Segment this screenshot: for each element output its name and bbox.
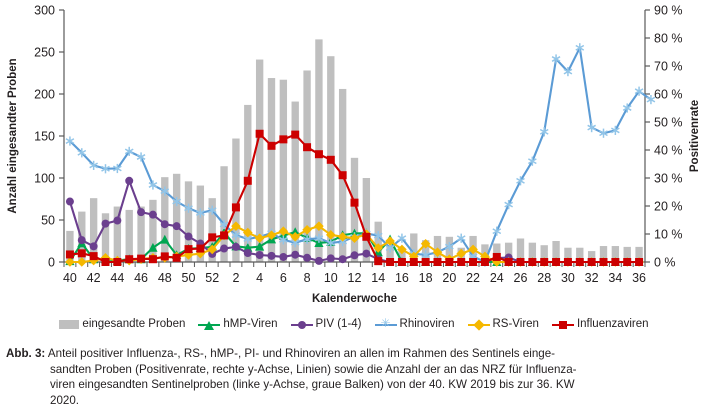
legend-item-rs-viren[interactable]: RS-Viren [468,318,539,330]
marker-square [374,257,382,265]
legend-item-influenzaviren[interactable]: Influenzaviren [552,318,649,330]
marker-square [457,258,465,266]
legend-marker-diamond-icon [468,319,490,330]
x-axis-tick-label: 12 [348,271,362,285]
marker-circle [327,254,335,262]
x-axis-tick-label: 40 [63,271,77,285]
marker-circle [185,233,193,241]
marker-square [398,258,406,266]
marker-square [208,233,216,241]
marker-square [576,258,584,266]
x-axis-tick-label: 18 [419,271,433,285]
figure-caption: Abb. 3: Anteil positiver Influenza-, RS-… [6,346,700,408]
y-axis-right-tick-label: 40 % [654,144,683,158]
marker-square [173,254,181,262]
legend-marker-star-icon: ✳ [375,319,397,330]
chart-legend: eingesandte ProbenhMP-VirenPIV (1-4)✳Rhi… [0,318,708,330]
bar-eingesandte-proben [363,178,370,262]
marker-square [220,231,228,239]
marker-square [339,171,347,179]
legend-swatch-bar-icon [59,320,79,329]
marker-square [422,258,430,266]
marker-circle [161,220,169,228]
series-line [70,48,651,262]
legend-symbol-star: ✳ [380,319,392,330]
marker-square [635,258,643,266]
y-axis-right-tick-label: 70 % [654,60,683,74]
x-axis-tick-label: 46 [134,271,148,285]
legend-label: hMP-Viren [223,318,277,330]
bar-eingesandte-proben [149,200,156,262]
y-axis-left-tick-label: 100 [34,172,55,186]
x-axis-tick-label: 32 [585,271,599,285]
marker-square [493,253,501,261]
x-axis-tick-label: 30 [561,271,575,285]
marker-square [362,233,370,241]
marker-circle [137,208,145,216]
x-axis-tick-label: 26 [514,271,528,285]
marker-square [517,258,525,266]
y-axis-right-tick-label: 60 % [654,88,683,102]
x-axis-tick-label: 24 [490,271,504,285]
marker-square [481,258,489,266]
legend-marker-circle-icon [291,319,313,330]
legend-marker-square-icon [552,319,574,330]
marker-circle [244,249,252,257]
y-axis-right-title: Positivenrate [689,100,701,172]
bar-eingesandte-proben [173,174,180,262]
marker-square [279,135,287,143]
caption-line-4: 2020. [6,393,700,409]
marker-square [410,258,418,266]
marker-circle [173,222,181,230]
marker-circle [220,245,228,253]
x-axis-tick-label: 42 [87,271,101,285]
marker-circle [303,254,311,262]
legend-label: PIV (1-4) [316,318,362,330]
x-axis-tick-label: 16 [395,271,409,285]
legend-symbol-triangle [204,321,214,330]
marker-square [196,245,204,253]
marker-square [125,255,133,263]
marker-circle [125,177,133,185]
bar-eingesandte-proben [256,60,263,262]
marker-circle [113,217,121,225]
marker-circle [66,198,74,206]
bars-group [66,39,643,262]
marker-square [327,156,335,164]
x-axis-tick-label: 52 [205,271,219,285]
marker-square [291,131,299,139]
y-axis-right-tick-label: 50 % [654,116,683,130]
caption-line-2: sandten Proben (Positivenrate, rechte y-… [6,362,700,378]
legend-symbol-diamond [473,319,484,330]
marker-circle [232,243,240,251]
marker-circle [149,211,157,219]
legend-label: Rhinoviren [400,318,455,330]
x-axis-title: Kalenderwoche [312,293,397,305]
x-axis-tick-label: 36 [632,271,646,285]
y-axis-left-tick-label: 50 [41,214,55,228]
marker-square [90,252,98,260]
marker-square [611,258,619,266]
x-axis-tick-label: 22 [466,271,480,285]
marker-square [303,143,311,151]
caption-line-1: Anteil positiver Influenza-, RS-, hMP-, … [48,347,555,360]
y-axis-right-tick-label: 0 % [654,256,676,270]
figure-container: 0501001502002503000 %10 %20 %30 %40 %50 … [0,0,708,418]
marker-square [268,142,276,150]
legend-item-eingesandte-proben[interactable]: eingesandte Proben [59,318,185,330]
marker-square [469,258,477,266]
marker-circle [291,251,299,259]
x-axis-tick-label: 2 [232,271,239,285]
x-axis-tick-label: 20 [442,271,456,285]
legend-label: Influenzaviren [577,318,649,330]
x-axis-tick-label: 44 [110,271,124,285]
marker-square [113,258,121,266]
marker-circle [339,255,347,263]
y-axis-left-tick-label: 150 [34,130,55,144]
legend-marker-triangle-icon [198,319,220,330]
y-axis-right-tick-label: 30 % [654,172,683,186]
legend-label: RS-Viren [493,318,539,330]
marker-square [78,249,86,257]
marker-square [232,203,240,211]
marker-circle [315,257,323,265]
marker-square [161,252,169,260]
marker-circle [279,253,287,261]
marker-square [386,258,394,266]
y-axis-left-tick-label: 0 [48,256,55,270]
marker-square [505,258,513,266]
marker-circle [256,251,264,259]
marker-square [434,258,442,266]
marker-circle [351,251,359,259]
x-axis-tick-label: 50 [182,271,196,285]
y-axis-right-tick-label: 90 % [654,4,683,18]
marker-square [623,258,631,266]
marker-circle [362,250,370,258]
marker-square [137,255,145,263]
marker-square [256,130,264,138]
marker-square [315,150,323,158]
legend-symbol-square [559,321,567,329]
marker-square [149,255,157,263]
marker-square [540,258,548,266]
y-axis-right-tick-label: 80 % [654,32,683,46]
marker-square [102,258,110,266]
marker-square [244,177,252,185]
x-axis-tick-label: 14 [371,271,385,285]
x-axis-tick-label: 6 [280,271,287,285]
marker-square [600,258,608,266]
bar-eingesandte-proben [126,210,133,262]
marker-square [588,258,596,266]
marker-circle [102,220,110,228]
legend-symbol-circle [298,321,306,329]
marker-square [445,258,453,266]
y-axis-right-tick-label: 20 % [654,200,683,214]
y-axis-right-tick-label: 10 % [654,228,683,242]
figure-label: Abb. 3: [6,347,45,360]
y-axis-left-tick-label: 300 [34,4,55,18]
legend-item-rhinoviren[interactable]: ✳Rhinoviren [375,318,455,330]
x-axis-tick-label: 4 [256,271,263,285]
caption-line-3: viren eingesandten Sentinelproben (linke… [6,377,700,393]
marker-square [351,199,359,207]
marker-square [564,258,572,266]
x-axis-tick-label: 10 [324,271,338,285]
chart-svg: 0501001502002503000 %10 %20 %30 %40 %50 … [0,0,708,312]
marker-square [552,258,560,266]
x-axis-tick-label: 28 [537,271,551,285]
legend-label: eingesandte Proben [82,318,185,330]
legend-item-hmp-viren[interactable]: hMP-Viren [198,318,277,330]
x-axis-tick-label: 48 [158,271,172,285]
chart-area: 0501001502002503000 %10 %20 %30 %40 %50 … [0,0,708,312]
legend-item-piv-1-4[interactable]: PIV (1-4) [291,318,362,330]
y-axis-left-tick-label: 250 [34,46,55,60]
marker-circle [78,236,86,244]
x-axis-tick-label: 34 [608,271,622,285]
marker-square [185,245,193,253]
marker-square [66,250,74,258]
marker-square [528,258,536,266]
x-axis-tick-label: 8 [304,271,311,285]
y-axis-left-tick-label: 200 [34,88,55,102]
marker-circle [268,252,276,260]
y-axis-left-title: Anzahl eingesandter Proben [7,58,19,213]
marker-circle [90,242,98,250]
